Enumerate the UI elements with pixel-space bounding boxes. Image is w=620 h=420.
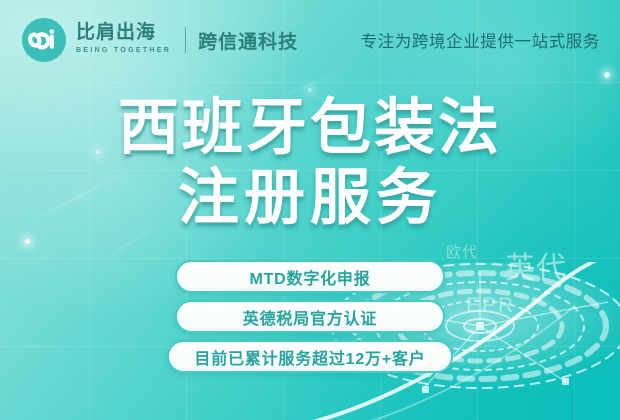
brand-subsidiary-name: 跨信通科技 xyxy=(198,27,298,54)
feature-pill-customers[interactable]: 目前已累计服务超过12万+客户 xyxy=(167,340,453,373)
header-tagline: 专注为跨境企业提供一站式服务 xyxy=(361,28,600,52)
brand-text-block: 比肩出海 BEING TOGETHER xyxy=(76,23,171,57)
glow-dot xyxy=(25,239,30,244)
brand-name-cn: 比肩出海 xyxy=(76,23,171,43)
promo-banner: 欧代 英代 EPR 比肩出海 BEING TOGETHER 跨信通科技 专注为跨… xyxy=(0,0,620,420)
feature-pill-mtd[interactable]: MTD数字化申报 xyxy=(175,260,445,293)
brand-divider xyxy=(185,27,186,53)
banner-header: 比肩出海 BEING TOGETHER 跨信通科技 专注为跨境企业提供一站式服务 xyxy=(0,0,620,80)
feature-pill-certification[interactable]: 英德税局官方认证 xyxy=(175,300,445,333)
feature-pill-list: MTD数字化申报 英德税局官方认证 目前已累计服务超过12万+客户 xyxy=(0,260,620,373)
hero-title-line-1: 西班牙包装法 xyxy=(0,92,620,162)
brand-name-en: BEING TOGETHER xyxy=(76,45,171,57)
hero-title-block: 西班牙包装法 注册服务 xyxy=(0,92,620,232)
brand-lockup[interactable]: 比肩出海 BEING TOGETHER 跨信通科技 xyxy=(22,18,298,62)
watermark-ou-dai: 欧代 xyxy=(446,241,478,262)
being-together-monogram-icon xyxy=(22,18,66,62)
hero-title-line-2: 注册服务 xyxy=(0,162,620,232)
